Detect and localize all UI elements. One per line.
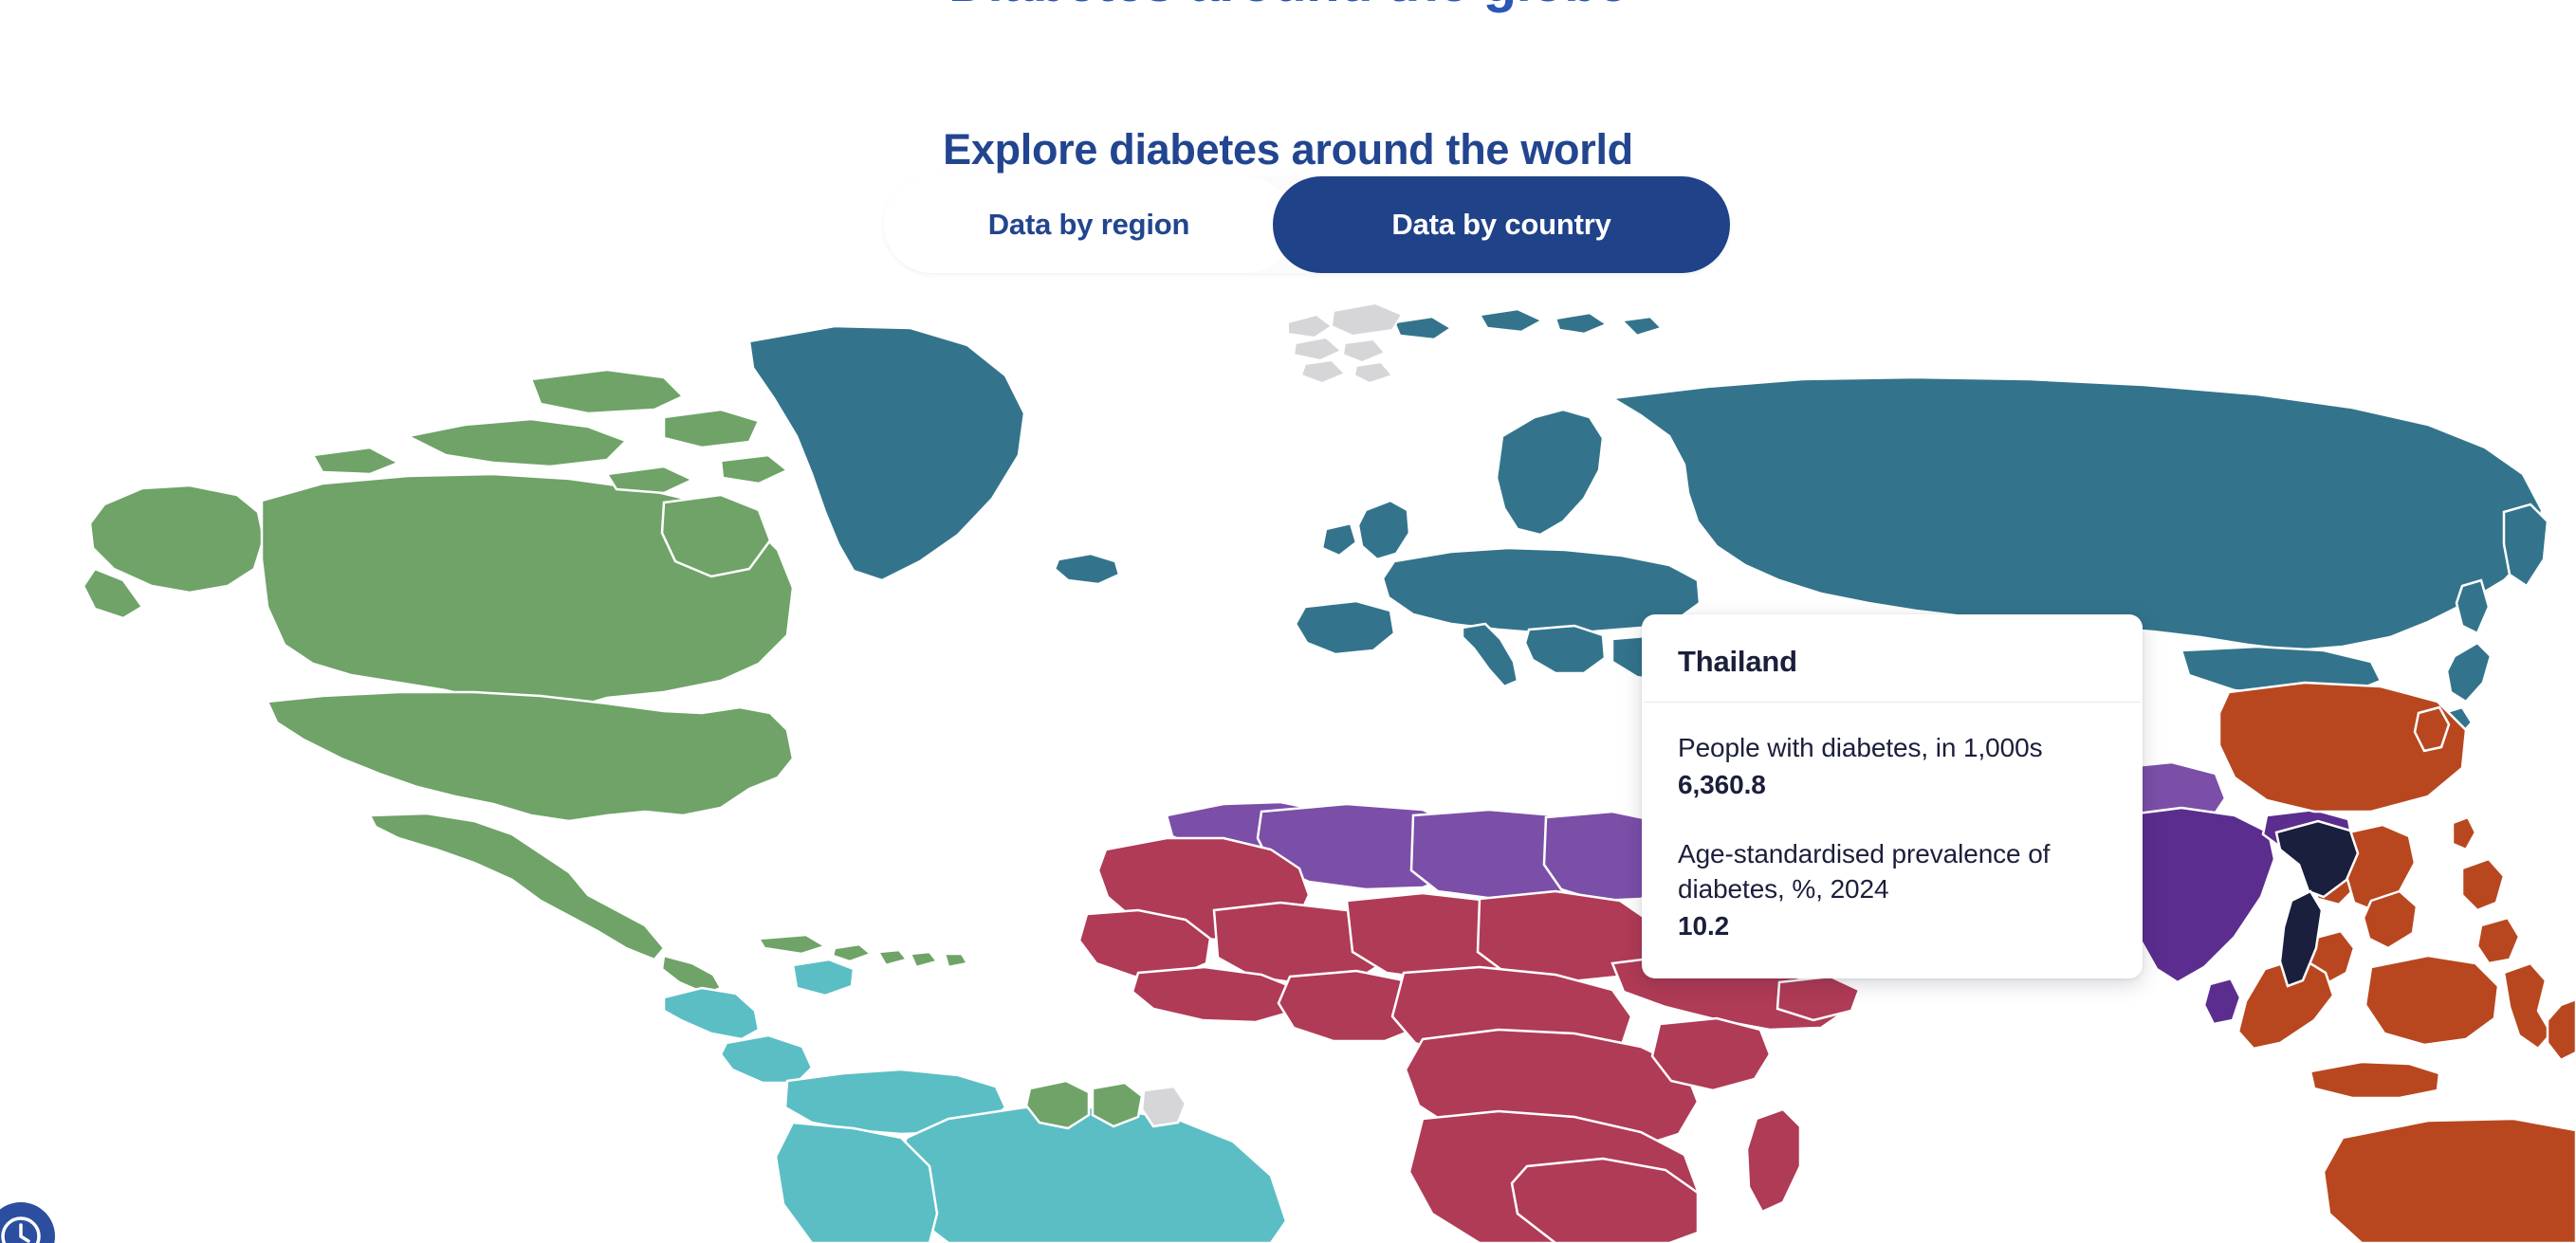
page-root: Diabetes around the globe Explore diabet… — [0, 0, 2576, 1243]
metric-value: 6,360.8 — [1678, 768, 2107, 803]
metric-age-standardised-prevalence: Age-standardised prevalence of diabetes,… — [1678, 837, 2107, 944]
metric-people-with-diabetes: People with diabetes, in 1,000s 6,360.8 — [1678, 731, 2107, 803]
tab-data-by-region[interactable]: Data by region — [884, 176, 1294, 273]
tab-data-by-country[interactable]: Data by country — [1273, 176, 1730, 273]
map-layer-no-data — [1288, 303, 1402, 383]
tooltip-country-name: Thailand — [1642, 614, 2143, 702]
data-view-toggle[interactable]: Data by region Data by country — [884, 176, 1730, 273]
world-map[interactable] — [0, 284, 2576, 1243]
page-title: Explore diabetes around the world — [0, 128, 2576, 171]
country-tooltip: Thailand People with diabetes, in 1,000s… — [1642, 614, 2143, 978]
cut-off-page-heading: Diabetes around the globe — [0, 0, 2576, 14]
tooltip-metrics: People with diabetes, in 1,000s 6,360.8 … — [1642, 703, 2143, 978]
metric-label: Age-standardised prevalence of diabetes,… — [1678, 837, 2107, 907]
metric-value: 10.2 — [1678, 909, 2107, 944]
metric-label: People with diabetes, in 1,000s — [1678, 731, 2107, 766]
map-layer-western-pacific — [2219, 683, 2576, 1243]
